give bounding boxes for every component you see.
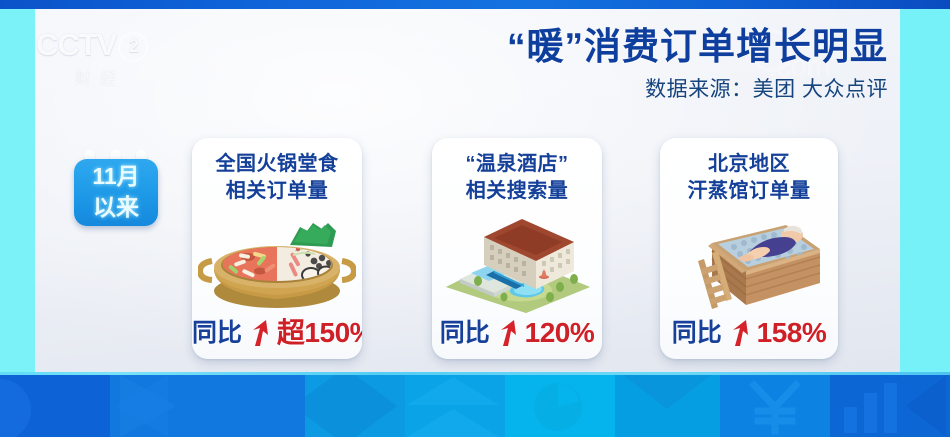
up-arrow-icon bbox=[729, 319, 751, 347]
bottom-bar-segment bbox=[615, 375, 720, 437]
bottom-bar-segment bbox=[505, 375, 615, 437]
up-arrow-icon bbox=[249, 319, 271, 347]
sauna-barrel-icon bbox=[668, 209, 830, 315]
period-line-2: 以来 bbox=[74, 192, 158, 223]
left-edge-strip bbox=[0, 8, 35, 372]
up-arrow-icon bbox=[497, 319, 519, 347]
period-line-1: 11月 bbox=[74, 161, 158, 192]
bottom-bar-segment bbox=[305, 375, 405, 437]
yuan-icon bbox=[744, 379, 806, 435]
cctv-channel-logo: CCTV2 财经 bbox=[36, 30, 164, 92]
card-illustration bbox=[192, 209, 362, 317]
cctv-channel-number: 2 bbox=[118, 32, 148, 62]
data-source-line: 数据来源：美团 大众点评 bbox=[507, 76, 888, 104]
card-title-line-2: 汗蒸馆订单量 bbox=[660, 178, 838, 205]
card-title: 北京地区 汗蒸馆订单量 bbox=[660, 151, 838, 205]
chevron-right-icon bbox=[110, 375, 305, 437]
card-footer: 同比 158% bbox=[660, 316, 838, 350]
triangle-icon bbox=[405, 375, 505, 437]
hotpot-icon bbox=[198, 209, 356, 315]
card-footer: 同比 120% bbox=[432, 316, 602, 350]
card-title: “温泉酒店” 相关搜索量 bbox=[432, 151, 602, 205]
compare-label: 同比 bbox=[440, 319, 490, 347]
pie-chart-icon bbox=[527, 381, 589, 433]
right-edge-strip bbox=[900, 8, 950, 372]
bottom-bar-segment bbox=[720, 375, 830, 437]
diamond-icon bbox=[305, 375, 405, 437]
bottom-decor-bar bbox=[0, 372, 950, 437]
chevron-down-icon bbox=[615, 375, 720, 437]
card-title-line-1: 北京地区 bbox=[660, 151, 838, 178]
card-title-line-1: 全国火锅堂食 bbox=[192, 151, 362, 178]
top-blue-band bbox=[0, 0, 950, 9]
stat-card-hotspring-hotel: “温泉酒店” 相关搜索量 bbox=[432, 138, 602, 359]
card-title-line-2: 相关订单量 bbox=[192, 178, 362, 205]
card-title-line-1: “温泉酒店” bbox=[432, 151, 602, 178]
compare-label: 同比 bbox=[192, 319, 242, 347]
growth-value: 120% bbox=[525, 317, 595, 348]
page-title: “暖”消费订单增长明显 bbox=[507, 24, 888, 70]
cctv-wordmark: CCTV2 bbox=[36, 30, 164, 62]
bottom-bar-segment bbox=[830, 375, 950, 437]
chevron-left-icon bbox=[876, 375, 950, 437]
growth-value: 超150% bbox=[277, 317, 362, 348]
cctv-subbrand: 财经 bbox=[36, 65, 164, 89]
card-illustration bbox=[432, 209, 602, 317]
headline-block: “暖”消费订单增长明显 数据来源：美团 大众点评 bbox=[507, 24, 888, 104]
cctv-letters: CCTV bbox=[36, 27, 116, 62]
bottom-bar-segment bbox=[110, 375, 305, 437]
card-title: 全国火锅堂食 相关订单量 bbox=[192, 151, 362, 205]
broadcast-graphic: CCTV2 财经 央视网 .com “暖”消费订单增长明显 数据来源：美团 大众… bbox=[0, 0, 950, 437]
circle-icon bbox=[0, 379, 56, 437]
growth-value: 158% bbox=[757, 317, 827, 348]
card-footer: 同比 超150% bbox=[192, 316, 362, 350]
hotel-resort-icon bbox=[438, 209, 596, 315]
card-title-line-2: 相关搜索量 bbox=[432, 178, 602, 205]
bottom-bar-segment bbox=[0, 375, 110, 437]
card-illustration bbox=[660, 209, 838, 317]
period-badge-body: 11月 以来 bbox=[74, 159, 158, 226]
bottom-bar-segment bbox=[405, 375, 505, 437]
period-badge: 11月 以来 bbox=[74, 150, 158, 226]
compare-label: 同比 bbox=[672, 319, 722, 347]
stat-card-sauna: 北京地区 汗蒸馆订单量 bbox=[660, 138, 838, 359]
stat-card-hotpot: 全国火锅堂食 相关订单量 bbox=[192, 138, 362, 359]
